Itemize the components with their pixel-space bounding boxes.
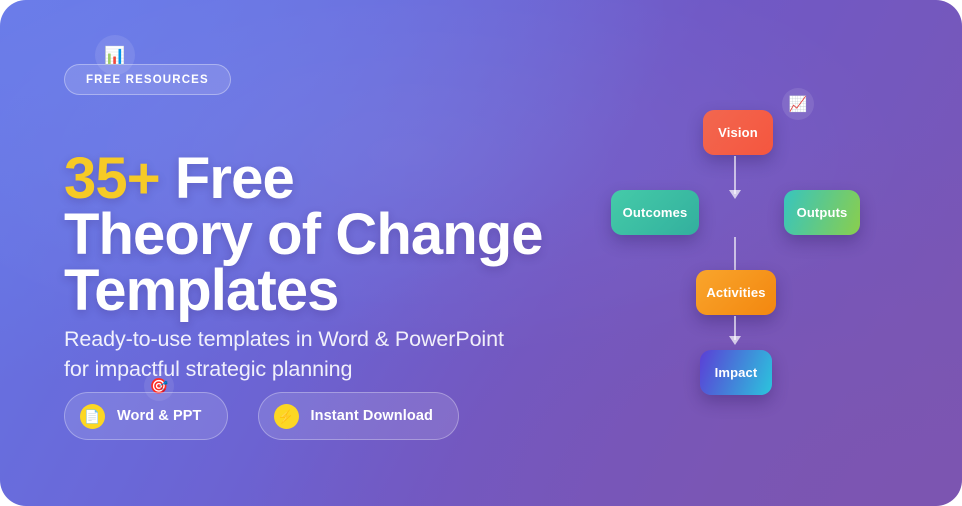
lightning-bolt-icon: ⚡ [274,404,299,429]
arrowhead-vision-down [729,190,741,199]
word-and-ppt-button[interactable]: 📄 Word & PPT [64,392,228,440]
hero-banner: 📊 FREE RESOURCES 35+ Free Theory of Chan… [0,0,962,506]
diagram-node-activities[interactable]: Activities [696,270,776,315]
word-and-ppt-button-label: Word & PPT [117,408,202,424]
chart-increasing-glyph: 📈 [789,97,808,112]
diagram-node-vision[interactable]: Vision [703,110,773,155]
instant-download-button[interactable]: ⚡ Instant Download [258,392,459,440]
connector-vision-to-activities-upper [734,156,736,194]
diagram-node-outcomes-label: Outcomes [623,205,688,220]
hero-subtitle: Ready-to-use templates in Word & PowerPo… [64,324,564,384]
headline-line-2: Theory of Change [64,207,584,263]
subtitle-line-2: for impactful strategic planning [64,354,564,384]
theory-of-change-diagram: 📈 Vision Outcomes Outputs Activities Imp… [596,80,926,420]
document-glyph: 📄 [84,410,100,423]
diagram-node-vision-label: Vision [718,125,758,140]
chart-increasing-icon: 📈 [782,88,814,120]
connector-to-activities-lower [734,237,736,270]
hero-button-row: 📄 Word & PPT ⚡ Instant Download [64,392,459,440]
diagram-node-activities-label: Activities [706,285,765,300]
bar-chart-icon: 📊 [95,35,135,75]
hero-left-column: 📊 FREE RESOURCES 35+ Free Theory of Chan… [64,0,584,506]
subtitle-line-1: Ready-to-use templates in Word & PowerPo… [64,324,564,354]
page-title: 35+ Free Theory of Change Templates [64,151,584,319]
diagram-node-outputs-label: Outputs [797,205,848,220]
arrowhead-activities-down [729,336,741,345]
document-icon: 📄 [80,404,105,429]
diagram-node-impact-label: Impact [715,365,758,380]
diagram-node-impact[interactable]: Impact [700,350,772,395]
instant-download-button-label: Instant Download [311,408,433,424]
bar-chart-glyph: 📊 [104,47,125,64]
free-resources-badge-group: 📊 FREE RESOURCES [64,64,231,95]
lightning-bolt-glyph: ⚡ [278,410,294,423]
free-resources-badge[interactable]: FREE RESOURCES [64,64,231,95]
diagram-node-outputs[interactable]: Outputs [784,190,860,235]
headline-line-1: 35+ Free [64,151,584,207]
headline-line-3: Templates [64,263,584,319]
diagram-node-outcomes[interactable]: Outcomes [611,190,699,235]
free-resources-badge-label: FREE RESOURCES [86,74,209,86]
